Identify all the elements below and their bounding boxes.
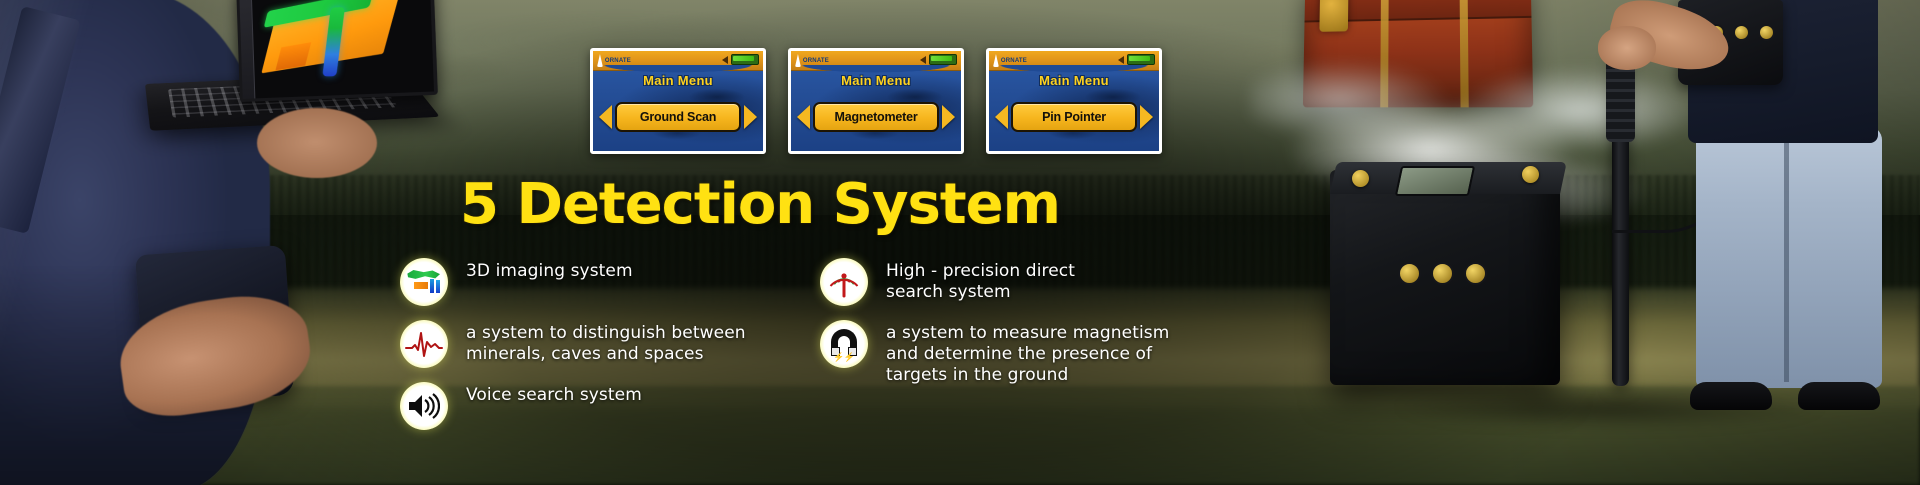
feature-line: 3D imaging system <box>466 261 633 282</box>
chest-metal-band <box>1380 0 1388 107</box>
prev-mode-arrow-icon[interactable] <box>995 105 1008 129</box>
detector-port-2 <box>1431 262 1454 285</box>
speaker-sound-icon <box>400 382 448 430</box>
feature-line: search system <box>886 282 1075 303</box>
screen-title: Main Menu <box>989 73 1159 88</box>
screen-status-bar: ORNATE <box>791 51 961 71</box>
page-title: 5 Detection System <box>460 172 1060 237</box>
next-mode-arrow-icon[interactable] <box>1140 105 1153 129</box>
feature-line: and determine the presence of <box>886 344 1169 365</box>
screen-status-bar: ORNATE <box>989 51 1159 71</box>
feature-text: 3D imaging system <box>466 258 633 282</box>
feature-column-right: High - precision direct search system ⚡ … <box>820 258 1240 400</box>
feature-line: targets in the ground <box>886 365 1169 386</box>
device-screen-magnetometer[interactable]: ORNATE Main Menu Magnetometer <box>788 48 964 154</box>
man-jeans <box>1696 126 1882 388</box>
device-logo: ORNATE <box>993 53 1027 68</box>
chest-metal-band <box>1460 0 1469 107</box>
software-toolbar <box>239 0 255 99</box>
man-shoe-left <box>1690 382 1772 410</box>
detector-button-row <box>1398 262 1487 285</box>
feature-text: Voice search system <box>466 382 642 406</box>
brand-logo-text: ORNATE <box>1001 58 1027 64</box>
detector-port-1 <box>1398 262 1421 285</box>
detector-connector-knob <box>1352 170 1369 187</box>
list-item: ⚡ ⚡ a system to measure magnetism and de… <box>820 320 1240 386</box>
status-indicators <box>1118 54 1155 65</box>
next-mode-arrow-icon[interactable] <box>744 105 757 129</box>
ecg-waveform-icon <box>400 320 448 368</box>
brand-mark-icon <box>597 54 603 67</box>
status-indicators <box>920 54 957 65</box>
next-mode-arrow-icon[interactable] <box>942 105 955 129</box>
horseshoe-magnet-icon: ⚡ ⚡ <box>820 320 868 368</box>
battery-full-icon <box>929 54 957 65</box>
prev-mode-arrow-icon[interactable] <box>797 105 810 129</box>
prev-mode-arrow-icon[interactable] <box>599 105 612 129</box>
detector-connector-knob <box>1522 166 1539 183</box>
speaker-icon <box>722 56 728 64</box>
selected-mode-button[interactable]: Magnetometer <box>813 102 939 132</box>
list-item: Voice search system <box>400 382 800 430</box>
device-logo: ORNATE <box>795 53 829 68</box>
laptop-screen <box>236 0 438 102</box>
mode-selector[interactable]: Pin Pointer <box>995 103 1153 131</box>
device-screens-row: ORNATE Main Menu Ground Scan ORNATE <box>590 48 1162 154</box>
speaker-icon <box>920 56 926 64</box>
battery-full-icon <box>731 54 759 65</box>
feature-line: Voice search system <box>466 385 642 406</box>
list-item: High - precision direct search system <box>820 258 1240 306</box>
radar-antenna-icon <box>820 258 868 306</box>
feature-text: a system to distinguish between minerals… <box>466 320 746 365</box>
detector-display-screen <box>1395 166 1475 196</box>
list-item: a system to distinguish between minerals… <box>400 320 800 368</box>
man-with-probe <box>1660 0 1920 484</box>
selected-mode-button[interactable]: Ground Scan <box>615 102 741 132</box>
feature-line: High - precision direct <box>886 261 1075 282</box>
feature-text: High - precision direct search system <box>886 258 1075 303</box>
detection-system-banner: ORNATE Main Menu Ground Scan ORNATE <box>0 0 1920 485</box>
laptop <box>145 0 415 153</box>
control-knob <box>1733 24 1750 41</box>
chest-lock-icon <box>1319 0 1348 32</box>
battery-full-icon <box>1127 54 1155 65</box>
treasure-chest <box>1303 0 1533 107</box>
feature-column-left: 3D imaging system a system to distinguis… <box>400 258 800 444</box>
brand-mark-icon <box>795 54 801 67</box>
speaker-icon <box>1118 56 1124 64</box>
detector-port-3 <box>1464 262 1487 285</box>
feature-text: a system to measure magnetism and determ… <box>886 320 1169 386</box>
selected-mode-button[interactable]: Pin Pointer <box>1011 102 1137 132</box>
screen-title: Main Menu <box>593 73 763 88</box>
screen-title: Main Menu <box>791 73 961 88</box>
3d-terrain-icon <box>400 258 448 306</box>
control-knob <box>1758 24 1775 41</box>
device-screen-pin-pointer[interactable]: ORNATE Main Menu Pin Pointer <box>986 48 1162 154</box>
3d-scan-visualization <box>261 0 405 82</box>
feature-line: a system to measure magnetism <box>886 323 1169 344</box>
feature-line: minerals, caves and spaces <box>466 344 746 365</box>
brand-mark-icon <box>993 54 999 67</box>
brand-logo-text: ORNATE <box>605 58 631 64</box>
man-hand-on-probe <box>1598 26 1656 70</box>
man-shoe-right <box>1798 382 1880 410</box>
feature-line: a system to distinguish between <box>466 323 746 344</box>
mode-selector[interactable]: Ground Scan <box>599 103 757 131</box>
device-logo: ORNATE <box>597 53 631 68</box>
man-hand-holding-laptop <box>257 108 377 178</box>
status-indicators <box>722 54 759 65</box>
device-screen-ground-scan[interactable]: ORNATE Main Menu Ground Scan <box>590 48 766 154</box>
mode-selector[interactable]: Magnetometer <box>797 103 955 131</box>
list-item: 3D imaging system <box>400 258 800 306</box>
brand-logo-text: ORNATE <box>803 58 829 64</box>
screen-status-bar: ORNATE <box>593 51 763 71</box>
